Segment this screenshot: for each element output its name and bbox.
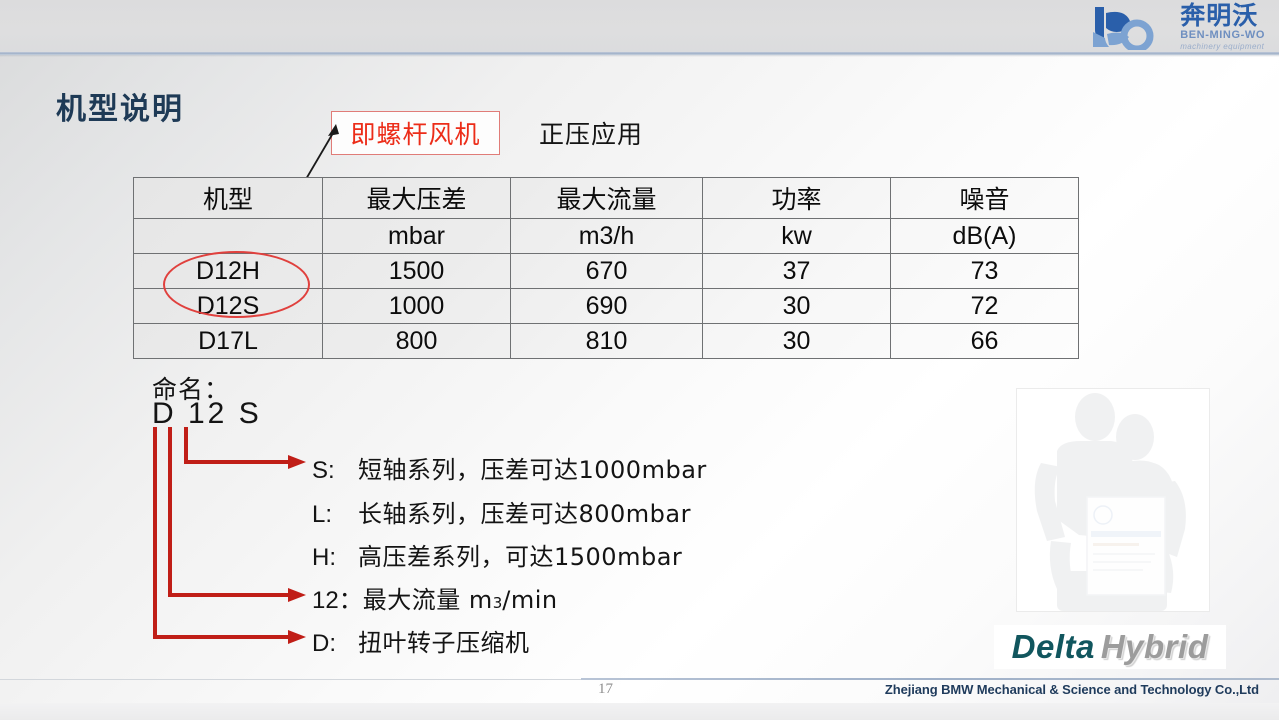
cell-max-flow: 690: [511, 289, 703, 324]
table-header-row-1: 机型 最大压差 最大流量 功率 噪音: [134, 178, 1079, 219]
legend-key-12: 12：: [312, 580, 363, 615]
legend-item-12: 12： 最大流量 m3/min: [312, 580, 558, 615]
cell-model: D12S: [134, 289, 323, 324]
spec-table: 机型 最大压差 最大流量 功率 噪音 mbar m3/h kw dB(A) D1…: [133, 177, 1079, 359]
legend-item-h: H: 高压差系列，可达1500mbar: [312, 537, 682, 572]
cell-max-flow: 810: [511, 324, 703, 359]
legend-desc-12: 最大流量 m: [363, 580, 493, 615]
brand-english-name: BEN-MING-WO: [1180, 30, 1265, 41]
legend-desc-l: 长轴系列，压差可达800mbar: [358, 494, 691, 529]
naming-connector-lines: [150, 425, 330, 650]
cell-model: D12H: [134, 254, 323, 289]
legend-superscript-12: 3: [493, 594, 503, 612]
cell-power: 30: [703, 289, 891, 324]
header-cell-model: 机型: [134, 178, 323, 219]
callout-text: 即螺杆风机: [350, 115, 480, 151]
legend-desc-s: 短轴系列，压差可达1000mbar: [358, 450, 707, 485]
callout-box: 即螺杆风机: [331, 111, 500, 155]
legend-desc-h: 高压差系列，可达1500mbar: [358, 537, 682, 572]
footer-company-name: Zhejiang BMW Mechanical & Science and Te…: [885, 682, 1259, 697]
legend-key-s: S:: [312, 457, 358, 485]
header-cell-max-pressure: 最大压差: [323, 178, 511, 219]
legend-desc-d: 扭叶转子压缩机: [358, 623, 530, 658]
legend-item-l: L: 长轴系列，压差可达800mbar: [312, 494, 691, 529]
cell-max-flow: 670: [511, 254, 703, 289]
footer-band: [0, 703, 1279, 720]
unit-cell-noise: dB(A): [891, 219, 1079, 254]
unit-cell-max-pressure: mbar: [323, 219, 511, 254]
legend-item-s: S: 短轴系列，压差可达1000mbar: [312, 450, 707, 485]
cell-max-pressure: 1000: [323, 289, 511, 324]
cell-model: D17L: [134, 324, 323, 359]
cell-max-pressure: 1500: [323, 254, 511, 289]
delta-hybrid-logo: Delta Hybrid: [994, 625, 1226, 669]
footer-divider-left: [0, 679, 581, 680]
robot-photo: [1016, 388, 1210, 612]
legend-key-d: D:: [312, 630, 358, 658]
header-cell-power: 功率: [703, 178, 891, 219]
cell-power: 30: [703, 324, 891, 359]
brand-chinese-name: 奔明沃: [1180, 3, 1265, 28]
header-divider-shadow: [0, 55, 1279, 57]
header-cell-max-flow: 最大流量: [511, 178, 703, 219]
legend-key-l: L:: [312, 501, 358, 529]
positive-pressure-note: 正压应用: [539, 115, 643, 151]
cell-max-pressure: 800: [323, 324, 511, 359]
brand-tagline: machinery equipment: [1180, 43, 1265, 51]
brand-logo: 奔明沃 BEN-MING-WO machinery equipment: [1033, 2, 1265, 52]
robots-illustration-icon: [1017, 389, 1209, 611]
legend-desc-tail-12: /min: [502, 586, 557, 614]
legend-item-d: D: 扭叶转子压缩机: [312, 623, 530, 658]
naming-code: D 12 S: [152, 397, 262, 431]
unit-cell-max-flow: m3/h: [511, 219, 703, 254]
header-cell-noise: 噪音: [891, 178, 1079, 219]
legend-key-h: H:: [312, 544, 358, 572]
footer-divider-right: [581, 678, 1279, 680]
bo-monogram-icon: [1089, 4, 1175, 50]
cell-power: 37: [703, 254, 891, 289]
unit-cell-model: [134, 219, 323, 254]
page-number: 17: [598, 681, 613, 698]
table-row: D12H 1500 670 37 73: [134, 254, 1079, 289]
table-row: D17L 800 810 30 66: [134, 324, 1079, 359]
cell-noise: 72: [891, 289, 1079, 324]
delta-word: Delta: [1012, 628, 1095, 666]
unit-cell-power: kw: [703, 219, 891, 254]
cell-noise: 73: [891, 254, 1079, 289]
brand-wordmark: 奔明沃 BEN-MING-WO machinery equipment: [1180, 3, 1265, 51]
table-header-row-2: mbar m3/h kw dB(A): [134, 219, 1079, 254]
hybrid-word: Hybrid: [1101, 628, 1209, 666]
cell-noise: 66: [891, 324, 1079, 359]
page-title: 机型说明: [56, 84, 184, 128]
slide-canvas: 奔明沃 BEN-MING-WO machinery equipment 机型说明…: [0, 0, 1279, 720]
table-row: D12S 1000 690 30 72: [134, 289, 1079, 324]
